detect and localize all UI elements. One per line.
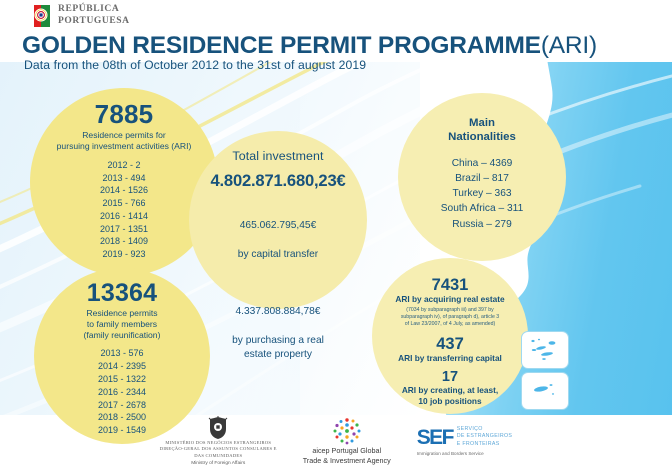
investment-routes-circle: 7431 ARI by acquiring real estate (7034 … (372, 258, 528, 414)
sef-english-caption: Immigration and Borders Service (417, 451, 512, 456)
nationality-row: Brazil – 817 (441, 171, 524, 186)
investment-realestate-block: 4.337.808.884,78€ by purchasing a real e… (232, 290, 324, 377)
family-year-row: 2017 - 2678 (98, 399, 146, 412)
investment-realestate-label: by purchasing a real estate property (232, 334, 324, 363)
aicep-logo-block: aicep Portugal Global Trade & Investment… (303, 416, 391, 467)
investment-label: Total investment (232, 149, 323, 163)
investment-capital-block: 465.062.795,45€ by capital transfer (238, 205, 318, 277)
investment-realestate-amount: 4.337.808.884,78€ (232, 305, 324, 319)
mne-logo-block: MINISTÉRIO DOS NEGÓCIOS ESTRANGEIROS DIR… (160, 416, 277, 467)
family-year-row: 2014 - 2395 (98, 360, 146, 373)
routes-realestate-label: ARI by acquiring real estate (395, 294, 504, 305)
routes-capital-number: 437 (436, 335, 464, 353)
total-investment-circle: Total investment 4.802.871.680,23€ 465.0… (189, 131, 367, 309)
routes-capital-label: ARI by transferring capital (398, 353, 502, 364)
permits-year-row: 2017 - 1351 (100, 223, 148, 236)
investment-total-amount: 4.802.871.680,23€ (210, 171, 345, 191)
page-title-main: GOLDEN RESIDENCE PERMIT PROGRAMME (22, 32, 541, 59)
footer-logos: MINISTÉRIO DOS NEGÓCIOS ESTRANGEIROS DIR… (0, 415, 672, 467)
permits-year-row: 2016 - 1414 (100, 210, 148, 223)
permits-year-row: 2013 - 494 (100, 172, 148, 185)
routes-jobs-number: 17 (442, 370, 458, 386)
permits-number: 7885 (95, 101, 154, 128)
family-number: 13364 (87, 280, 158, 306)
azores-inset-box (521, 331, 569, 369)
permits-caption: Residence permits for pursuing investmen… (57, 130, 192, 151)
infographic-poster: REPÚBLICA PORTUGUESA GOLDEN RESIDENCE PE… (0, 0, 672, 467)
sef-wordmark: SEF (417, 427, 453, 448)
permits-year-row: 2019 - 923 (100, 248, 148, 261)
permits-year-row: 2014 - 1526 (100, 184, 148, 197)
family-year-row: 2016 - 2344 (98, 386, 146, 399)
permits-year-row: 2012 - 2 (100, 159, 148, 172)
sef-full-name: Serviço de Estrangeiros e Fronteiras (457, 426, 512, 448)
investment-capital-amount: 465.062.795,45€ (238, 219, 318, 233)
nationality-row: Turkey – 363 (441, 186, 524, 201)
aicep-dots-icon (332, 416, 362, 446)
family-year-row: 2015 - 1322 (98, 373, 146, 386)
nationality-row: Russia – 279 (441, 217, 524, 232)
permits-year-row: 2015 - 766 (100, 197, 148, 210)
nationality-row: China – 4369 (441, 156, 524, 171)
residence-permits-circle: 7885 Residence permits for pursuing inve… (30, 88, 218, 276)
mne-english-name: Ministry of Foreign Affairs (160, 461, 277, 466)
investment-capital-label: by capital transfer (238, 248, 318, 262)
mne-portuguese-name: MINISTÉRIO DOS NEGÓCIOS ESTRANGEIROS DIR… (160, 440, 277, 460)
family-year-row: 2013 - 576 (98, 347, 146, 360)
main-nationalities-circle: Main Nationalities China – 4369 Brazil –… (398, 93, 566, 261)
routes-realestate-number: 7431 (432, 276, 469, 294)
page-title: GOLDEN RESIDENCE PERMIT PROGRAMME(ARI) (22, 32, 597, 60)
madeira-inset-box (521, 372, 569, 410)
permits-year-list: 2012 - 2 2013 - 494 2014 - 1526 2015 - 7… (100, 159, 148, 261)
page-subtitle: Data from the 08th of October 2012 to th… (24, 58, 366, 72)
permits-year-row: 2018 - 1409 (100, 235, 148, 248)
nationality-row: South Africa – 311 (441, 201, 524, 216)
family-caption: Residence permits to family members (fam… (84, 308, 161, 340)
page-title-suffix: (ARI) (541, 32, 597, 59)
nationalities-list: China – 4369 Brazil – 817 Turkey – 363 S… (441, 156, 524, 232)
portugal-shield-icon (32, 4, 52, 28)
portugal-crest-icon (207, 416, 229, 440)
sef-logo-block: SEF Serviço de Estrangeiros e Fronteiras… (417, 426, 512, 456)
gov-logo-text: REPÚBLICA PORTUGUESA (58, 4, 130, 27)
routes-jobs-label: ARI by creating, at least, 10 job positi… (402, 385, 498, 406)
aicep-subtitle: Trade & Investment Agency (303, 456, 391, 466)
aicep-name: aicep Portugal Global (303, 446, 391, 456)
republica-portuguesa-logo: REPÚBLICA PORTUGUESA (32, 4, 130, 28)
nationalities-title: Main Nationalities (448, 116, 516, 145)
routes-realestate-legal-note: (7034 by subparagraph iii) and 397 by su… (401, 307, 499, 328)
